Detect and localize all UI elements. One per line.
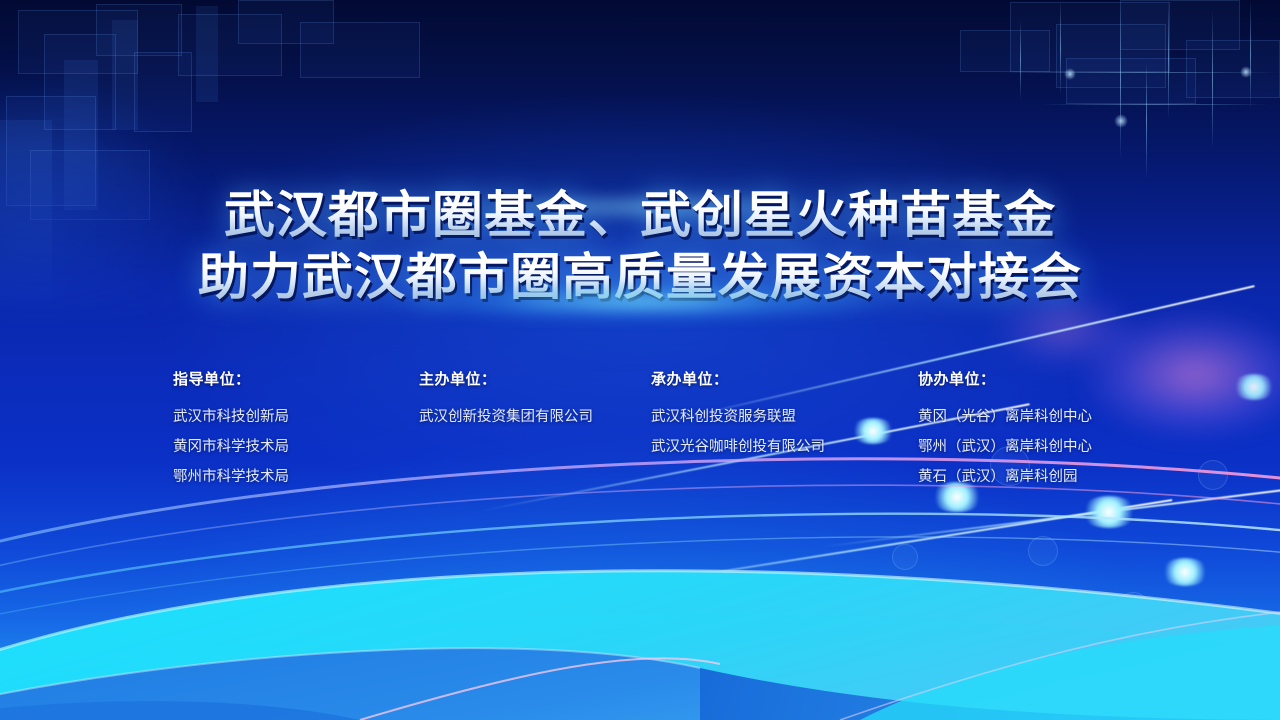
org-column-heading: 承办单位： <box>651 368 825 389</box>
org-column-heading: 主办单位： <box>419 368 593 389</box>
event-poster: 武汉都市圈基金、武创星火种苗基金 助力武汉都市圈高质量发展资本对接会 指导单位：… <box>0 0 1280 720</box>
title-line-1: 武汉都市圈基金、武创星火种苗基金 <box>0 186 1280 244</box>
org-column-heading: 协办单位： <box>918 368 1092 389</box>
wave-decoration <box>0 420 1280 720</box>
poster-title: 武汉都市圈基金、武创星火种苗基金 助力武汉都市圈高质量发展资本对接会 <box>0 186 1280 306</box>
org-column-heading: 指导单位： <box>173 368 289 389</box>
title-glow-bottom <box>380 282 900 322</box>
